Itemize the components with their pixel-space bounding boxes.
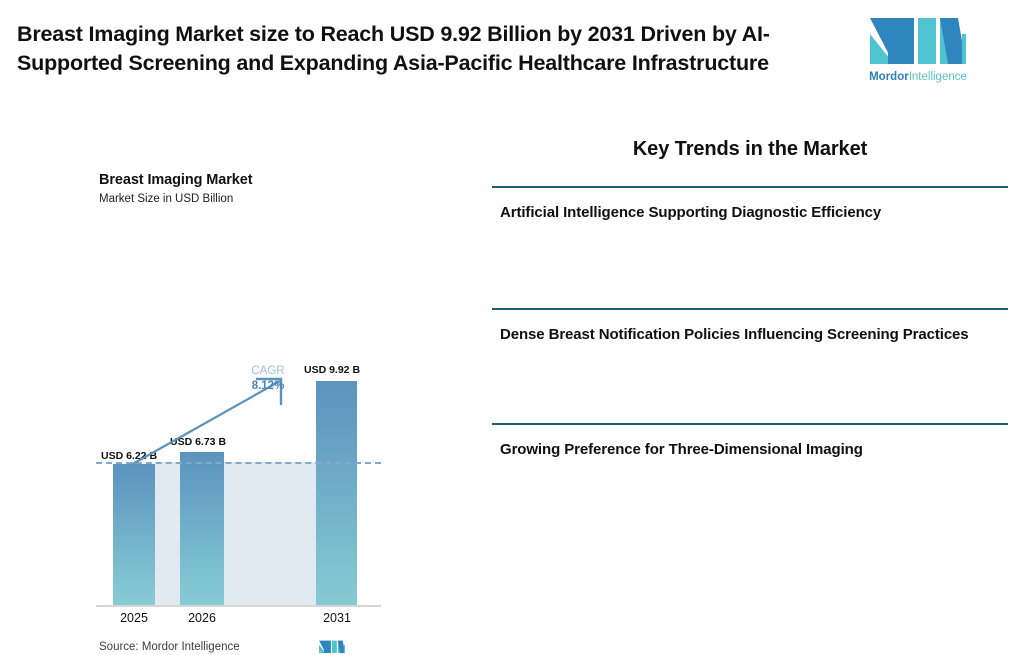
page-header: Breast Imaging Market size to Reach USD … [0, 0, 1030, 112]
trend-item-text: Artificial Intelligence Supporting Diagn… [500, 201, 995, 224]
x-tick-2025: 2025 [104, 611, 164, 625]
trend-list-item: Dense Breast Notification Policies Influ… [492, 308, 1008, 346]
key-trends-panel: Key Trends in the Market Artificial Inte… [490, 112, 1010, 565]
cagr-label-text: CAGR [242, 364, 294, 379]
bar-2031 [316, 381, 357, 605]
x-tick-2026: 2026 [172, 611, 232, 625]
brand-word-intelligence: Intelligence [909, 71, 967, 83]
trend-list-item: Growing Preference for Three-Dimensional… [492, 423, 1008, 461]
trend-item-text: Dense Breast Notification Policies Influ… [500, 323, 995, 346]
page-title: Breast Imaging Market size to Reach USD … [17, 20, 837, 77]
brand-logo: MordorIntelligence [866, 12, 970, 88]
bar-chart-plot: USD 6.22 B USD 6.73 B USD 9.92 B CAGR 8.… [0, 112, 470, 565]
cagr-value-text: 8.12% [242, 379, 294, 394]
column-background-2 [224, 462, 316, 605]
chart-panel: Breast Imaging Market Market Size in USD… [0, 112, 470, 565]
brand-word-mordor: Mordor [869, 71, 909, 83]
x-axis-baseline [96, 605, 381, 607]
x-tick-2031: 2031 [307, 611, 367, 625]
column-background-1 [155, 462, 180, 605]
mordor-intelligence-monogram-icon [866, 12, 970, 68]
chart-mordor-logo-icon [318, 638, 346, 655]
trend-list-item: Artificial Intelligence Supporting Diagn… [492, 186, 1008, 224]
brand-wordmark: MordorIntelligence [866, 70, 970, 84]
chart-source-text: Source: Mordor Intelligence [99, 641, 240, 653]
bar-2025 [113, 464, 155, 605]
cagr-annotation: CAGR 8.12% [242, 364, 294, 394]
key-trends-heading: Key Trends in the Market [508, 138, 992, 161]
trend-item-text: Growing Preference for Three-Dimensional… [500, 438, 995, 461]
